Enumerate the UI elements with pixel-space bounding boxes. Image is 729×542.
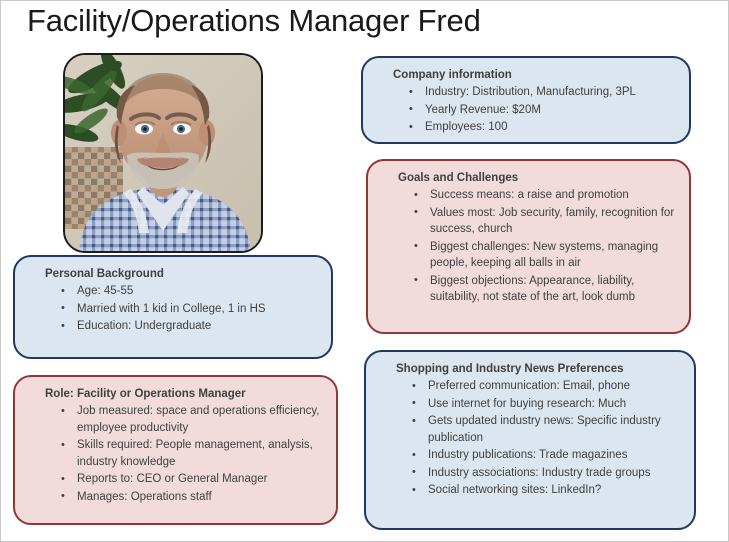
list-item: Married with 1 kid in College, 1 in HS: [61, 301, 321, 318]
goals-and-challenges-box: Goals and Challenges Success means: a ra…: [366, 159, 691, 334]
company-information-list: Industry: Distribution, Manufacturing, 3…: [381, 84, 679, 136]
shopping-and-industry-news-list: Preferred communication: Email, phone Us…: [384, 378, 684, 499]
list-item: Industry publications: Trade magazines: [412, 447, 684, 464]
list-item: Industry: Distribution, Manufacturing, 3…: [409, 84, 679, 101]
list-item: Values most: Job security, family, recog…: [414, 205, 679, 238]
list-item: Gets updated industry news: Specific ind…: [412, 413, 684, 446]
list-item: Yearly Revenue: $20M: [409, 102, 679, 119]
personal-background-box: Personal Background Age: 45-55 Married w…: [13, 255, 333, 359]
list-item: Biggest objections: Appearance, liabilit…: [414, 273, 679, 306]
list-item: Manages: Operations staff: [61, 489, 326, 506]
list-item: Job measured: space and operations effic…: [61, 403, 326, 436]
list-item: Social networking sites: LinkedIn?: [412, 482, 684, 499]
persona-slide: Facility/Operations Manager Fred: [0, 0, 729, 542]
company-information-heading: Company information: [393, 68, 679, 83]
role-heading: Role: Facility or Operations Manager: [45, 387, 326, 402]
goals-and-challenges-list: Success means: a raise and promotion Val…: [386, 187, 679, 306]
role-box: Role: Facility or Operations Manager Job…: [13, 375, 338, 525]
persona-photo: [63, 53, 263, 253]
list-item: Education: Undergraduate: [61, 318, 321, 335]
list-item: Industry associations: Industry trade gr…: [412, 465, 684, 482]
list-item: Biggest challenges: New systems, managin…: [414, 239, 679, 272]
shopping-and-industry-news-heading: Shopping and Industry News Preferences: [396, 362, 684, 377]
role-list: Job measured: space and operations effic…: [33, 403, 326, 505]
company-information-box: Company information Industry: Distributi…: [361, 56, 691, 144]
list-item: Age: 45-55: [61, 283, 321, 300]
list-item: Use internet for buying research: Much: [412, 396, 684, 413]
list-item: Reports to: CEO or General Manager: [61, 471, 326, 488]
goals-and-challenges-heading: Goals and Challenges: [398, 171, 679, 186]
personal-background-list: Age: 45-55 Married with 1 kid in College…: [33, 283, 321, 335]
list-item: Preferred communication: Email, phone: [412, 378, 684, 395]
personal-background-heading: Personal Background: [45, 267, 321, 282]
shopping-and-industry-news-box: Shopping and Industry News Preferences P…: [364, 350, 696, 530]
page-title: Facility/Operations Manager Fred: [27, 3, 481, 39]
list-item: Employees: 100: [409, 119, 679, 136]
list-item: Success means: a raise and promotion: [414, 187, 679, 204]
list-item: Skills required: People management, anal…: [61, 437, 326, 470]
persona-photo-image: [65, 55, 261, 251]
